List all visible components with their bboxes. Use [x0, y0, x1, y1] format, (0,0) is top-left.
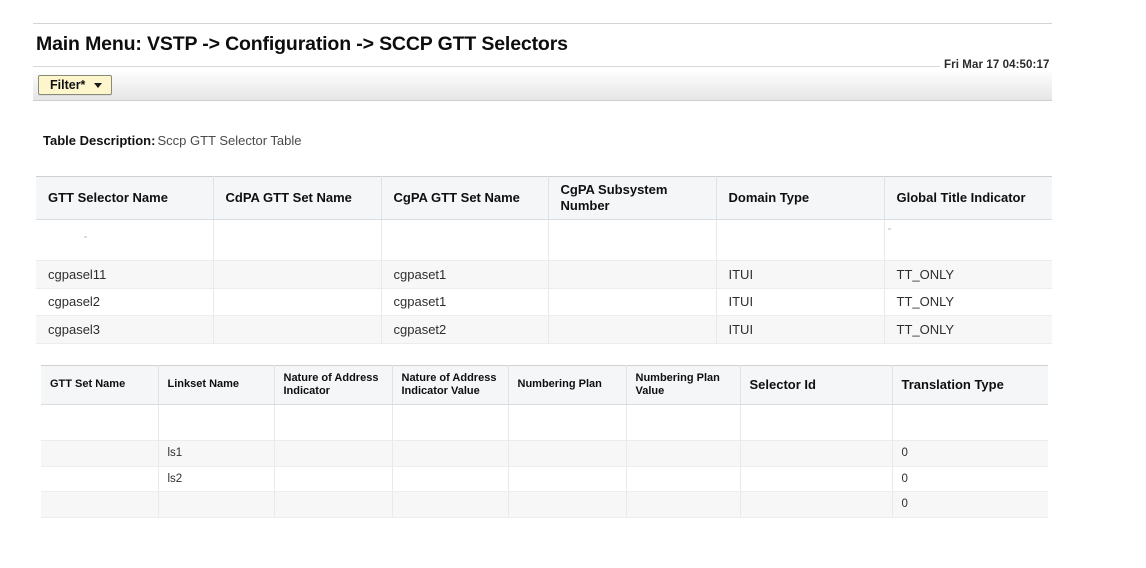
cell-nature-of-address-indicator — [274, 466, 392, 492]
selector-table-body: cgpasel11 cgpaset1 ITUI TT_ONLY cgpasel2… — [36, 220, 1052, 344]
table-description-value: Sccp GTT Selector Table — [157, 133, 301, 148]
table-row[interactable]: cgpasel3 cgpaset2 ITUI TT_ONLY — [36, 316, 1052, 344]
timestamp: Fri Mar 17 04:50:17 — [940, 59, 1146, 71]
cell-selector-id — [740, 441, 892, 467]
cell-nature-of-address-indicator-value — [392, 441, 508, 467]
cell-gtt-set-name — [41, 441, 158, 467]
column-header-cgpa-gtt-set-name[interactable]: CgPA GTT Set Name — [381, 177, 548, 220]
filter-cell[interactable] — [740, 405, 892, 441]
cell-cdpa-gtt-set-name — [213, 316, 381, 344]
render-artifact — [84, 236, 87, 238]
column-header-gtt-selector-name[interactable]: GTT Selector Name — [36, 177, 213, 220]
table-description: Table Description:Sccp GTT Selector Tabl… — [43, 133, 301, 148]
column-header-domain-type[interactable]: Domain Type — [716, 177, 884, 220]
cell-cgpa-gtt-set-name: cgpaset2 — [381, 316, 548, 344]
top-divider — [33, 23, 1052, 24]
table-row[interactable]: cgpasel2 cgpaset1 ITUI TT_ONLY — [36, 288, 1052, 316]
gttset-filter-row[interactable] — [41, 405, 1048, 441]
filter-cell[interactable] — [213, 220, 381, 261]
filter-cell[interactable] — [392, 405, 508, 441]
filter-cell[interactable] — [716, 220, 884, 261]
cell-selector-id — [740, 466, 892, 492]
sccp-gtt-selector-table: GTT Selector Name CdPA GTT Set Name CgPA… — [36, 176, 1052, 344]
cell-cgpa-gtt-set-name: cgpaset1 — [381, 261, 548, 289]
cell-linkset-name: ls2 — [158, 466, 274, 492]
column-header-selector-id[interactable]: Selector Id — [740, 366, 892, 405]
selector-table-header-row: GTT Selector Name CdPA GTT Set Name CgPA… — [36, 177, 1052, 220]
cell-numbering-plan — [508, 441, 626, 467]
filter-cell[interactable] — [508, 405, 626, 441]
gtt-set-table: GTT Set Name Linkset Name Nature of Addr… — [41, 365, 1048, 518]
cell-gtt-set-name — [41, 492, 158, 518]
column-header-numbering-plan[interactable]: Numbering Plan — [508, 366, 626, 405]
cell-cgpa-subsystem-number — [548, 261, 716, 289]
filter-cell[interactable] — [892, 405, 1048, 441]
filter-cell[interactable] — [884, 220, 1052, 261]
column-header-nature-of-address-indicator-value[interactable]: Nature of Address Indicator Value — [392, 366, 508, 405]
cell-numbering-plan-value — [626, 466, 740, 492]
cell-numbering-plan-value — [626, 492, 740, 518]
cell-numbering-plan — [508, 466, 626, 492]
cell-translation-type: 0 — [892, 466, 1048, 492]
table-row[interactable]: ls1 0 — [41, 441, 1048, 467]
filter-button-label: Filter* — [50, 78, 85, 92]
filter-cell[interactable] — [274, 405, 392, 441]
cell-nature-of-address-indicator-value — [392, 466, 508, 492]
page-title: Main Menu: VSTP -> Configuration -> SCCP… — [36, 33, 568, 56]
gttset-table-head: GTT Set Name Linkset Name Nature of Addr… — [41, 366, 1048, 405]
cell-linkset-name — [158, 492, 274, 518]
filter-cell[interactable] — [626, 405, 740, 441]
table-row[interactable]: ls2 0 — [41, 466, 1048, 492]
chevron-down-icon — [94, 83, 102, 88]
cell-global-title-indicator: TT_ONLY — [884, 316, 1052, 344]
cell-translation-type: 0 — [892, 441, 1048, 467]
cell-nature-of-address-indicator-value — [392, 492, 508, 518]
cell-gtt-selector-name: cgpasel2 — [36, 288, 213, 316]
cell-global-title-indicator: TT_ONLY — [884, 288, 1052, 316]
column-header-nature-of-address-indicator[interactable]: Nature of Address Indicator — [274, 366, 392, 405]
filter-cell[interactable] — [381, 220, 548, 261]
filter-cell[interactable] — [158, 405, 274, 441]
selector-table-head: GTT Selector Name CdPA GTT Set Name CgPA… — [36, 177, 1052, 220]
cell-numbering-plan — [508, 492, 626, 518]
column-header-gtt-set-name[interactable]: GTT Set Name — [41, 366, 158, 405]
cell-cdpa-gtt-set-name — [213, 261, 381, 289]
cell-domain-type: ITUI — [716, 288, 884, 316]
title-divider — [33, 66, 1052, 67]
column-header-cdpa-gtt-set-name[interactable]: CdPA GTT Set Name — [213, 177, 381, 220]
filter-cell[interactable] — [41, 405, 158, 441]
cell-linkset-name: ls1 — [158, 441, 274, 467]
column-header-global-title-indicator[interactable]: Global Title Indicator — [884, 177, 1052, 220]
filter-cell[interactable] — [36, 220, 213, 261]
selector-filter-row[interactable] — [36, 220, 1052, 261]
filter-button[interactable]: Filter* — [38, 75, 112, 95]
cell-numbering-plan-value — [626, 441, 740, 467]
table-row[interactable]: 0 — [41, 492, 1048, 518]
cell-selector-id — [740, 492, 892, 518]
toolbar: Filter* — [33, 72, 1052, 101]
cell-domain-type: ITUI — [716, 261, 884, 289]
table-description-label: Table Description: — [43, 133, 155, 148]
gttset-table-body: ls1 0 ls2 0 — [41, 405, 1048, 518]
cell-gtt-set-name — [41, 466, 158, 492]
cell-gtt-selector-name: cgpasel11 — [36, 261, 213, 289]
column-header-numbering-plan-value[interactable]: Numbering Plan Value — [626, 366, 740, 405]
cell-cgpa-subsystem-number — [548, 288, 716, 316]
filter-cell[interactable] — [548, 220, 716, 261]
cell-gtt-selector-name: cgpasel3 — [36, 316, 213, 344]
column-header-linkset-name[interactable]: Linkset Name — [158, 366, 274, 405]
column-header-cgpa-subsystem-number[interactable]: CgPA Subsystem Number — [548, 177, 716, 220]
gttset-table-header-row: GTT Set Name Linkset Name Nature of Addr… — [41, 366, 1048, 405]
render-artifact — [888, 228, 891, 230]
cell-global-title-indicator: TT_ONLY — [884, 261, 1052, 289]
cell-cgpa-gtt-set-name: cgpaset1 — [381, 288, 548, 316]
table-row[interactable]: cgpasel11 cgpaset1 ITUI TT_ONLY — [36, 261, 1052, 289]
page-root: Main Menu: VSTP -> Configuration -> SCCP… — [0, 0, 1146, 568]
cell-cgpa-subsystem-number — [548, 316, 716, 344]
column-header-translation-type[interactable]: Translation Type — [892, 366, 1048, 405]
cell-translation-type: 0 — [892, 492, 1048, 518]
cell-nature-of-address-indicator — [274, 492, 392, 518]
cell-nature-of-address-indicator — [274, 441, 392, 467]
cell-cdpa-gtt-set-name — [213, 288, 381, 316]
cell-domain-type: ITUI — [716, 316, 884, 344]
